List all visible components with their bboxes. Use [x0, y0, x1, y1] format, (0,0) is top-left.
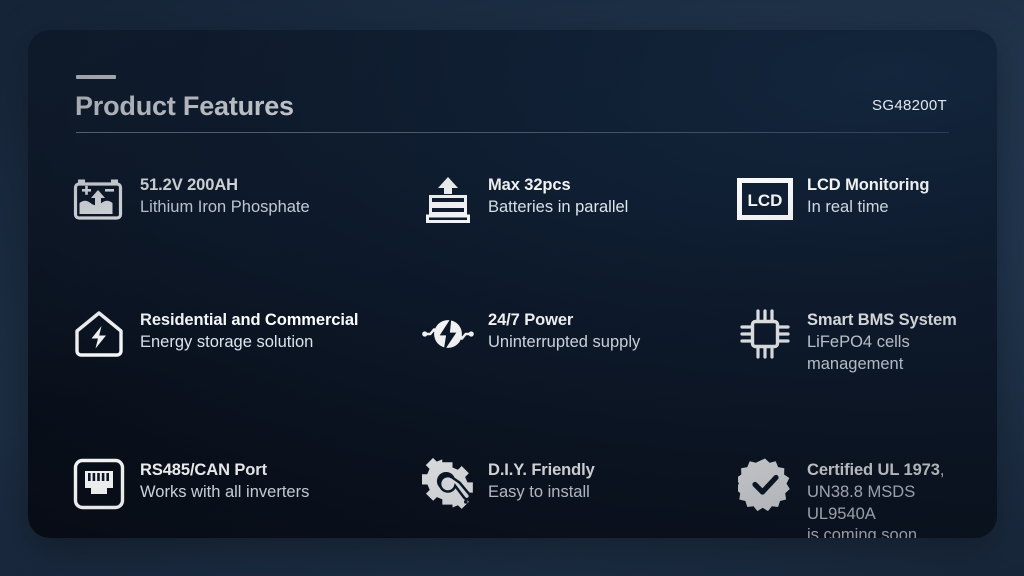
feature-text: Smart BMS System LiFePO4 cells managemen… [807, 307, 983, 375]
feature-title-suffix: , [940, 461, 944, 479]
feature-item-bms: Smart BMS System LiFePO4 cells managemen… [713, 307, 983, 375]
cpu-chip-icon [737, 307, 793, 361]
feature-item-residential: Residential and Commercial Energy storag… [48, 307, 398, 361]
feature-title: RS485/CAN Port [140, 460, 309, 481]
gear-wrench-icon [422, 457, 474, 511]
feature-title: Certified UL 1973, [807, 460, 944, 481]
feature-title-main: Certified UL 1973 [807, 461, 940, 479]
feature-item-parallel: Max 32pcs Batteries in parallel [398, 172, 713, 226]
feature-title: Residential and Commercial [140, 310, 358, 331]
feature-subtitle: Energy storage solution [140, 332, 358, 353]
feature-title: 51.2V 200AH [140, 175, 310, 196]
feature-text: 24/7 Power Uninterrupted supply [488, 307, 640, 354]
feature-subtitle: Works with all inverters [140, 482, 309, 503]
stacked-layers-up-arrow-icon [422, 172, 474, 226]
feature-title: D.I.Y. Friendly [488, 460, 595, 481]
power-circle-bolt-icon [422, 307, 474, 361]
battery-icon [72, 172, 126, 226]
feature-text: LCD Monitoring In real time [807, 172, 929, 219]
feature-card: Product Features SG48200T [28, 30, 997, 538]
feature-subtitle: Uninterrupted supply [488, 332, 640, 353]
ethernet-port-icon [72, 457, 126, 511]
feature-text: Certified UL 1973, UN38.8 MSDS UL9540A i… [807, 457, 944, 538]
slide-stage: Product Features SG48200T [0, 0, 1024, 576]
feature-text: D.I.Y. Friendly Easy to install [488, 457, 595, 504]
feature-text: 51.2V 200AH Lithium Iron Phosphate [140, 172, 310, 219]
feature-title: Smart BMS System [807, 310, 983, 331]
feature-title: LCD Monitoring [807, 175, 929, 196]
feature-title: Max 32pcs [488, 175, 628, 196]
lcd-screen-icon: LCD [737, 172, 793, 226]
house-bolt-icon [72, 307, 126, 361]
model-number: SG48200T [872, 97, 947, 114]
feature-subtitle: LiFePO4 cells management [807, 332, 983, 374]
feature-subtitle: Lithium Iron Phosphate [140, 197, 310, 218]
feature-item-power: 24/7 Power Uninterrupted supply [398, 307, 713, 361]
feature-subtitle: Batteries in parallel [488, 197, 628, 218]
feature-subtitle: UN38.8 MSDS UL9540A is coming soon. [807, 482, 944, 538]
feature-item-certified: Certified UL 1973, UN38.8 MSDS UL9540A i… [713, 457, 983, 538]
feature-title: 24/7 Power [488, 310, 640, 331]
feature-item-rs485: RS485/CAN Port Works with all inverters [48, 457, 398, 511]
feature-item-diy: D.I.Y. Friendly Easy to install [398, 457, 713, 511]
feature-grid: 51.2V 200AH Lithium Iron Phosphate Max 3… [48, 148, 983, 524]
header-divider [76, 132, 949, 133]
feature-text: RS485/CAN Port Works with all inverters [140, 457, 309, 504]
page-title: Product Features [75, 91, 294, 122]
feature-text: Residential and Commercial Energy storag… [140, 307, 358, 354]
feature-subtitle: In real time [807, 197, 929, 218]
accent-dash-icon [76, 75, 116, 79]
certified-badge-check-icon [737, 457, 793, 511]
feature-text: Max 32pcs Batteries in parallel [488, 172, 628, 219]
feature-item-lcd: LCD LCD Monitoring In real time [713, 172, 983, 226]
svg-text:LCD: LCD [748, 191, 783, 210]
feature-item-battery: 51.2V 200AH Lithium Iron Phosphate [48, 172, 398, 226]
feature-subtitle: Easy to install [488, 482, 595, 503]
